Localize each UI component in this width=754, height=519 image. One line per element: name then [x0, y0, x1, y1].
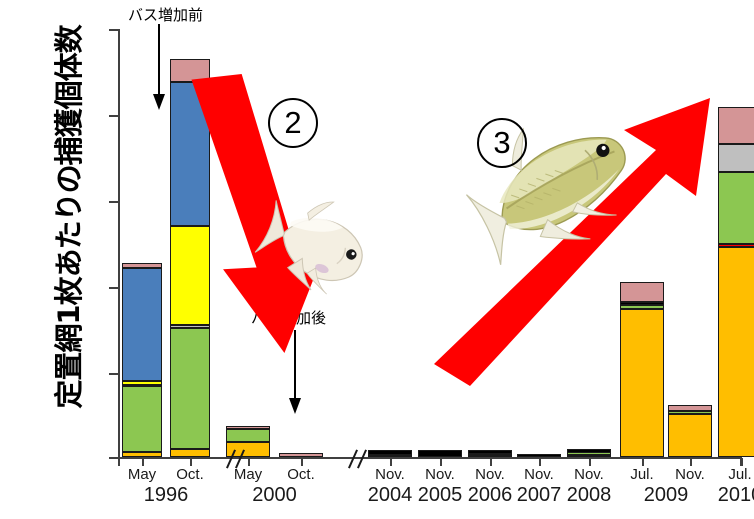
x-axis-tick [301, 458, 303, 466]
x-axis-line [118, 457, 742, 459]
bar-nov-2009 [668, 405, 712, 457]
y-axis-tick [109, 373, 118, 375]
bar-may-1996 [122, 263, 162, 457]
x-axis-tick [539, 458, 541, 466]
x-label-month: May [218, 466, 278, 483]
bar-segment-green-species [122, 386, 162, 452]
marker-circle-two: 2 [268, 98, 318, 148]
x-label-month: Nov. [559, 466, 619, 483]
x-axis-tick [248, 458, 250, 466]
bar-segment-pink-species [122, 263, 162, 268]
bar-segment-orange-species [718, 247, 754, 457]
fish-icon-small [262, 185, 372, 307]
x-label-year-text: 2009 [631, 484, 701, 506]
bar-segment-black-species [368, 450, 412, 455]
bar-segment-orange-species [668, 414, 712, 457]
x-axis-tick [390, 458, 392, 466]
bar-jul-2010 [718, 107, 754, 457]
bar-segment-green-species [718, 172, 754, 244]
bar-segment-black-species [567, 449, 611, 453]
bar-segment-pink-species [668, 405, 712, 412]
bar-segment-blue-species [122, 268, 162, 381]
bar-segment-pink-species [718, 107, 754, 144]
bar-segment-yellow-species [122, 381, 162, 385]
bar-nov-2004 [368, 450, 412, 457]
bar-nov-2006 [468, 450, 512, 457]
x-axis-tick [440, 458, 442, 466]
y-axis-tick [109, 287, 118, 289]
y-axis-tick [109, 457, 118, 459]
x-axis-tick [589, 458, 591, 466]
x-label-year: 2000 [240, 484, 310, 506]
before-bass-label: バス増加前 [128, 4, 203, 25]
x-label-year: 2010 [705, 484, 754, 506]
x-axis-tick [741, 458, 743, 466]
down-arrow-icon-1 [150, 24, 174, 112]
x-axis-tick [490, 458, 492, 466]
x-label-year: 2009 [631, 484, 701, 506]
x-label-month-text: Oct. [160, 466, 220, 483]
x-label-year-text: 2008 [554, 484, 624, 506]
bar-segment-green-species [226, 429, 270, 443]
y-axis-tick [109, 115, 118, 117]
x-label-month-text: Jul. [710, 466, 754, 483]
chart-root: 定置網1枚あたりの捕獲個体数 2500 2000 1500 1000 500 0… [0, 0, 754, 519]
bar-segment-grey-species [718, 144, 754, 172]
bar-segment-green-species [668, 411, 712, 414]
bar-nov-2007 [517, 454, 561, 457]
bar-segment-green-species [170, 328, 210, 450]
bar-nov-2008 [567, 449, 611, 457]
bar-segment-orange-species [368, 455, 412, 457]
x-axis-tick [118, 458, 120, 466]
x-label-month: Oct. [271, 466, 331, 483]
bar-oct-2000 [279, 453, 323, 457]
bar-segment-orange-species [122, 452, 162, 457]
x-label-year-text: 1996 [131, 484, 201, 506]
bar-segment-orange-species [170, 449, 210, 457]
x-label-month-text: Oct. [271, 466, 331, 483]
bar-segment-orange-species [567, 455, 611, 457]
bar-segment-pink-species [226, 426, 270, 429]
bar-nov-2005 [418, 450, 462, 457]
bar-segment-black-species [517, 454, 561, 457]
bar-segment-black-species [468, 450, 512, 453]
y-axis-tick [109, 29, 118, 31]
bar-segment-black-species [418, 450, 462, 457]
down-arrow-icon-2 [286, 330, 310, 416]
x-label-year: 1996 [131, 484, 201, 506]
x-label-month-text: May [218, 466, 278, 483]
x-label-month: Oct. [160, 466, 220, 483]
bar-segment-red-species [718, 244, 754, 247]
x-axis-tick [190, 458, 192, 466]
bar-segment-grey-species [170, 325, 210, 328]
x-label-year-text: 2010 [705, 484, 754, 506]
y-axis-line [118, 29, 120, 459]
x-label-year: 2008 [554, 484, 624, 506]
x-label-month-text: Nov. [559, 466, 619, 483]
x-label-year-text: 2000 [240, 484, 310, 506]
y-axis-title: 定置網1枚あたりの捕獲個体数 [46, 2, 88, 432]
y-axis-tick [109, 201, 118, 203]
x-axis-tick [690, 458, 692, 466]
x-label-month: Jul. [710, 466, 754, 483]
marker-circle-three: 3 [477, 118, 527, 168]
bar-segment-pink-species [279, 453, 323, 457]
x-axis-tick [642, 458, 644, 466]
x-axis-tick [142, 458, 144, 466]
